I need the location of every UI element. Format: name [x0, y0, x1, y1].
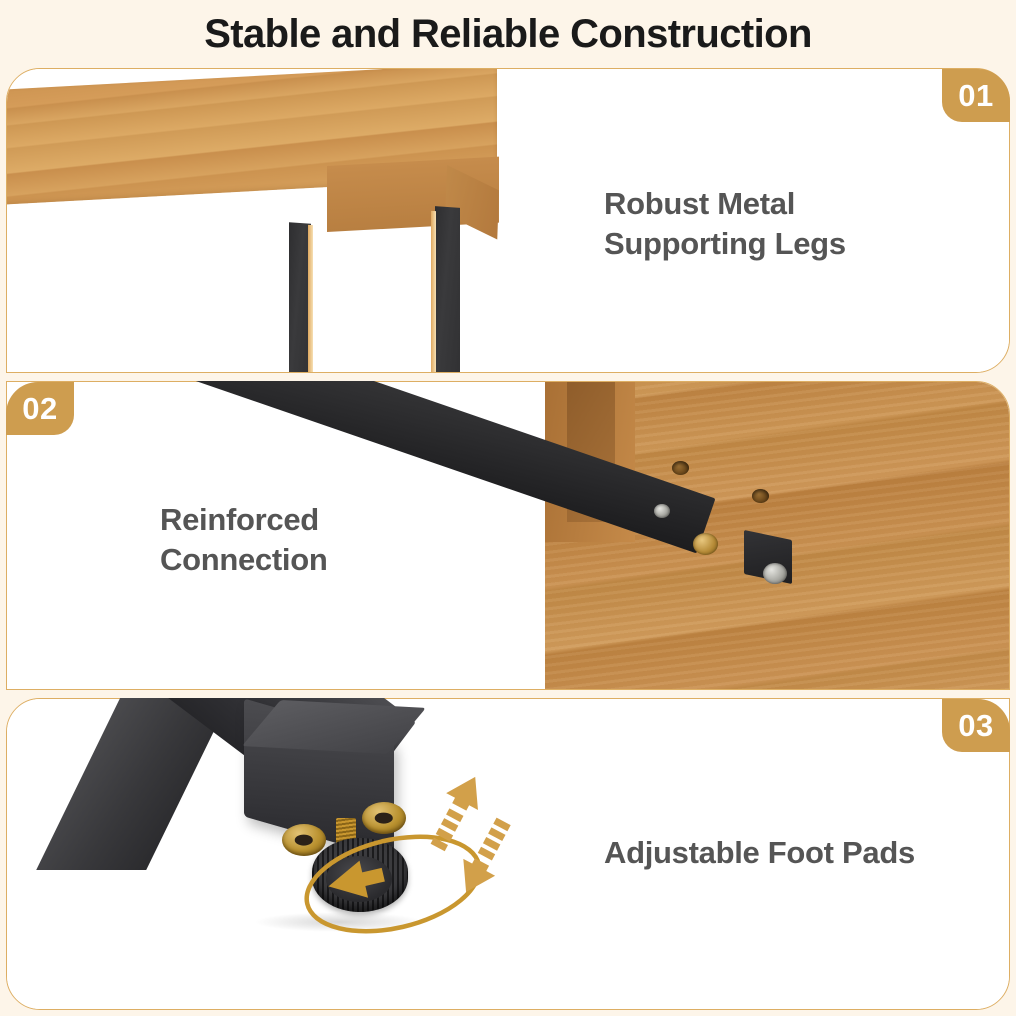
panel-number-badge-02: 02: [6, 382, 74, 435]
feature-caption-1: Robust Metal Supporting Legs: [604, 184, 846, 265]
feature-panel-1: [6, 68, 1010, 373]
u-shaped-metal-leg: [281, 207, 481, 373]
leg-edge-highlight-left: [308, 225, 313, 373]
leg-post-right: [435, 206, 460, 373]
feature-caption-3: Adjustable Foot Pads: [604, 833, 915, 873]
page-title: Stable and Reliable Construction: [0, 0, 1016, 62]
feature-panel-2: [6, 381, 1010, 690]
panel-number-badge-01: 01: [942, 69, 1010, 122]
feature-caption-2: Reinforced Connection: [160, 500, 328, 581]
product-photo-reinforced-connection: [7, 382, 1009, 689]
panel-number-badge-03: 03: [942, 699, 1010, 752]
product-photo-robust-metal-legs: [7, 69, 1009, 372]
bench-apron-inner: [567, 382, 615, 522]
leg-edge-highlight-right: [431, 211, 436, 373]
